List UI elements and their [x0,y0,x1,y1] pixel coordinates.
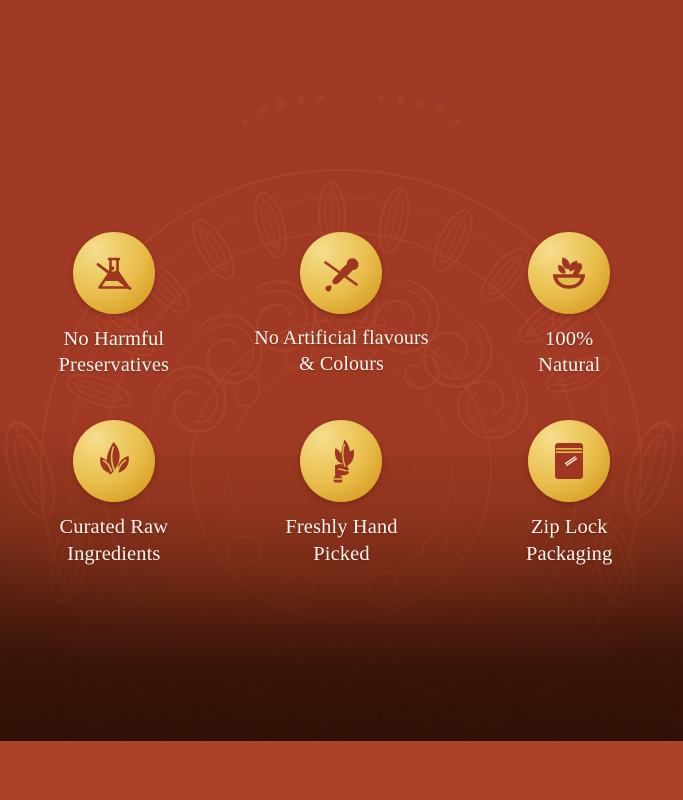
bottom-color-band [0,741,683,800]
product-benefits-banner: No Harmful Preservatives [0,0,683,800]
badge-no-artificial-flavours-colours [300,232,382,314]
feature-no-harmful-preservatives: No Harmful Preservatives [0,232,228,378]
badge-curated-raw-ingredients [73,420,155,502]
sprout-leaves-icon [89,436,139,486]
badge-freshly-hand-picked [300,420,382,502]
feature-caption: No Artificial flavours & Colours [254,326,428,377]
feature-100-natural: 100% Natural [455,232,683,378]
feature-caption: Freshly Hand Picked [285,514,397,566]
feature-no-artificial-flavours-colours: No Artificial flavours & Colours [228,232,456,378]
feature-caption: No Harmful Preservatives [59,326,170,378]
badge-100-natural [528,232,610,314]
hand-holding-leaves-icon [316,436,366,486]
benefits-grid: No Harmful Preservatives [0,232,683,567]
feature-caption: 100% Natural [538,326,600,378]
feature-caption: Curated Raw Ingredients [59,514,168,566]
dropper-crossed-out-icon [316,248,366,298]
mortar-pestle-leaves-icon [544,248,594,298]
zip-lock-pouch-icon [544,436,594,486]
feature-caption: Zip Lock Packaging [526,514,612,566]
feature-zip-lock-packaging: Zip Lock Packaging [455,420,683,566]
feature-curated-raw-ingredients: Curated Raw Ingredients [0,420,228,566]
badge-no-harmful-preservatives [73,232,155,314]
feature-freshly-hand-picked: Freshly Hand Picked [228,420,456,566]
flask-crossed-out-icon [89,248,139,298]
badge-zip-lock-packaging [528,420,610,502]
